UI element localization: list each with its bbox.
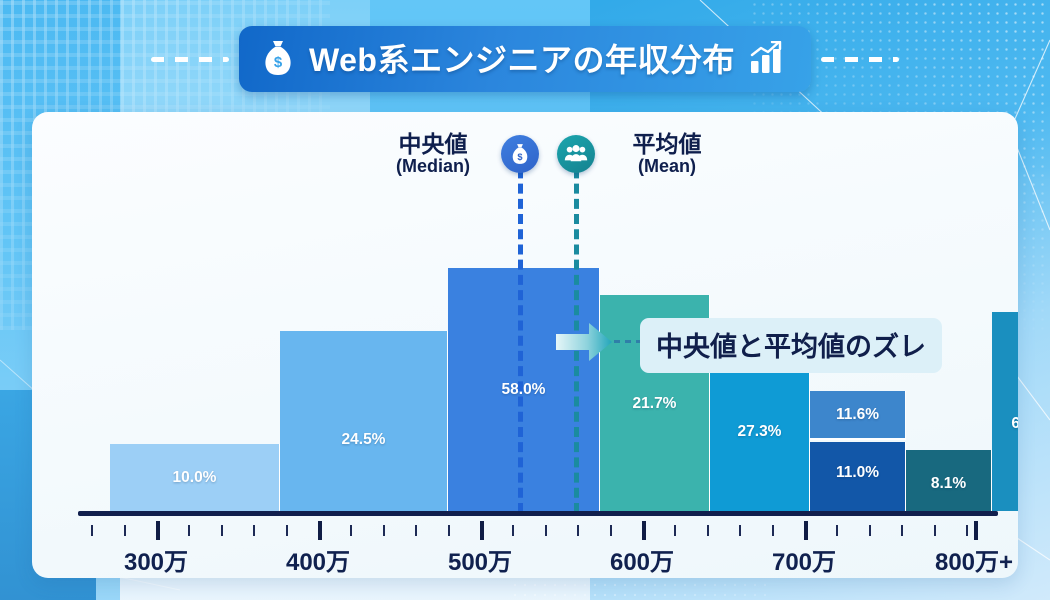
x-axis-tick-minor xyxy=(286,525,288,536)
bar-value-label: 11.0% xyxy=(810,464,905,482)
mean-label-en: (Mean) xyxy=(602,157,732,176)
page-title: Web系エンジニアの年収分布 xyxy=(309,35,735,81)
x-axis-tick-major xyxy=(804,521,808,540)
bar-700man-stacked: 11.6% 11.0% xyxy=(810,391,906,511)
mean-marker-circle xyxy=(557,135,595,173)
median-line xyxy=(518,138,523,513)
x-tick-label-800: 800万+ xyxy=(935,542,1013,577)
x-axis-tick-minor xyxy=(836,525,838,536)
median-label-jp: 中央値 xyxy=(368,132,498,157)
x-axis-tick-major xyxy=(480,521,484,540)
bar-chart-up-icon xyxy=(749,41,785,75)
bar-value-label: 58.0% xyxy=(502,381,546,399)
x-axis-tick-minor xyxy=(869,525,871,536)
bar-value-label: 21.7% xyxy=(633,395,677,413)
bar-300man: 10.0% xyxy=(110,444,280,511)
x-axis-labels: 300万 400万 500万 600万 700万 800万+ xyxy=(78,542,998,578)
right-arrow-icon xyxy=(556,320,612,364)
mean-label-jp: 平均値 xyxy=(602,132,732,157)
x-axis-tick-major xyxy=(318,521,322,540)
bar-400man: 24.5% xyxy=(280,331,448,511)
title-dash-right xyxy=(821,57,899,62)
x-axis-line xyxy=(78,511,998,516)
money-bag-icon: $ xyxy=(261,39,295,77)
x-axis-tick-minor xyxy=(610,525,612,536)
median-marker: $ xyxy=(501,135,539,173)
title-bar: $ Web系エンジニアの年収分布 xyxy=(0,26,1050,92)
bar-value-label: 11.6% xyxy=(810,406,905,424)
x-axis-tick-minor xyxy=(674,525,676,536)
median-label-en: (Median) xyxy=(368,157,498,176)
plot-area: 10.0% 24.5% 58.0% 21.7% 27.3% 11.6% 11.0… xyxy=(32,112,1018,578)
x-axis-tick-minor xyxy=(577,525,579,536)
x-axis-tick-minor xyxy=(383,525,385,536)
x-axis-tick-major xyxy=(642,521,646,540)
bar-value-label: 6.7% xyxy=(1011,415,1018,433)
x-axis-tick-minor xyxy=(91,525,93,536)
bar-700man-upper-segment: 11.6% xyxy=(810,391,906,440)
x-axis-tick-minor xyxy=(350,525,352,536)
x-tick-label-400: 400万 xyxy=(286,542,350,577)
bar-700man-lower-segment: 11.0% xyxy=(810,442,906,511)
x-axis-tick-minor xyxy=(966,525,968,536)
bar-750man: 8.1% xyxy=(906,450,992,511)
people-group-icon xyxy=(564,144,588,164)
mean-label: 平均値 (Mean) xyxy=(602,132,732,176)
money-bag-icon: $ xyxy=(510,143,530,165)
x-axis-tick-minor xyxy=(934,525,936,536)
x-axis-tick-minor xyxy=(707,525,709,536)
svg-text:$: $ xyxy=(274,54,283,71)
x-axis-tick-minor xyxy=(188,525,190,536)
x-axis-tick-major xyxy=(974,521,978,540)
median-label: 中央値 (Median) xyxy=(368,132,498,176)
svg-text:$: $ xyxy=(517,152,523,162)
x-axis-tick-minor xyxy=(221,525,223,536)
x-axis-tick-minor xyxy=(901,525,903,536)
gap-annotation-label: 中央値と平均値のズレ xyxy=(640,318,942,373)
bar-value-label: 10.0% xyxy=(173,469,217,487)
x-axis-tick-minor xyxy=(415,525,417,536)
x-tick-label-300: 300万 xyxy=(124,542,188,577)
x-axis-tick-minor xyxy=(253,525,255,536)
title-dash-left xyxy=(151,57,229,62)
bar-value-label: 27.3% xyxy=(738,423,782,441)
x-axis-tick-minor xyxy=(772,525,774,536)
x-axis-tick-minor xyxy=(545,525,547,536)
bar-value-label: 8.1% xyxy=(931,475,966,493)
x-tick-label-600: 600万 xyxy=(610,542,674,577)
x-axis-tick-minor xyxy=(448,525,450,536)
bar-value-label: 24.5% xyxy=(342,431,386,449)
x-axis-ticks xyxy=(78,521,998,541)
x-axis-tick-major xyxy=(156,521,160,540)
bar-800man-plus: 6.7% xyxy=(992,312,1018,511)
title-badge: $ Web系エンジニアの年収分布 xyxy=(239,26,811,92)
x-axis-tick-minor xyxy=(512,525,514,536)
chart-card: 10.0% 24.5% 58.0% 21.7% 27.3% 11.6% 11.0… xyxy=(32,112,1018,578)
x-axis-tick-minor xyxy=(124,525,126,536)
median-marker-circle: $ xyxy=(501,135,539,173)
mean-marker xyxy=(557,135,595,173)
x-axis-tick-minor xyxy=(739,525,741,536)
x-tick-label-700: 700万 xyxy=(772,542,836,577)
x-tick-label-500: 500万 xyxy=(448,542,512,577)
